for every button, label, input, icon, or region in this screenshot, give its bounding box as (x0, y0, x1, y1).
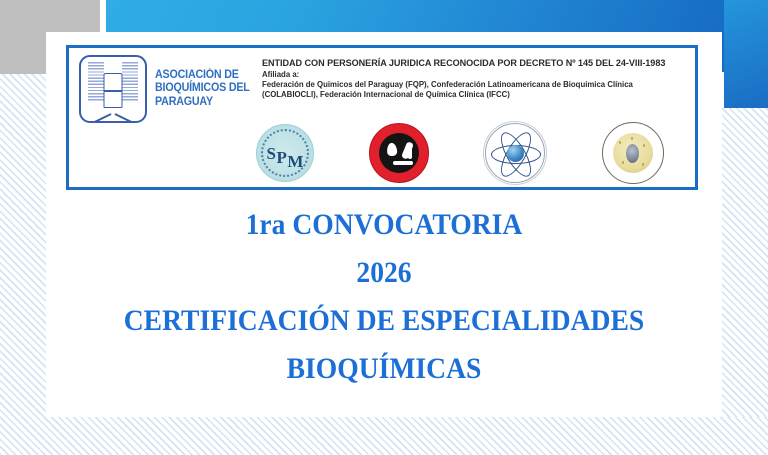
blood-cell-icon (626, 144, 639, 163)
seal-spm-initials: SPM (257, 125, 313, 181)
seal-hem-speck (619, 141, 622, 144)
association-name-line-3: PARAGUAY (155, 96, 250, 110)
seal-spm-icon: SPM (256, 124, 314, 182)
blood-drop-icon (386, 143, 397, 157)
legal-text-block: ENTIDAD CON PERSONERÍA JURIDICA RECONOCI… (262, 58, 689, 101)
poster-card: ASOCIACIÓN DE BIOQUÍMICOS DEL PARAGUAY E… (46, 32, 722, 417)
decor-hatch-bottom (0, 417, 768, 455)
asociacion-bioquimicos-logo-icon (79, 55, 147, 123)
affiliation-line-1: Federación de Quimicos del Paraguay (FQP… (262, 80, 689, 90)
legal-decree-line: ENTIDAD CON PERSONERÍA JURIDICA RECONOCI… (262, 58, 689, 68)
atom-nucleus-icon (507, 145, 524, 162)
association-name-line-2: BIOQUÍMICOS DEL (155, 82, 250, 96)
decor-hatch-left (0, 74, 46, 455)
seal-hematologia-laboratorial-icon (369, 123, 429, 183)
seal-hem-core (613, 133, 653, 173)
logo-leg-left (87, 113, 111, 123)
seal-spm-letter-s: S (267, 145, 277, 162)
seal-hem-speck (643, 144, 646, 147)
association-identity: ASOCIACIÓN DE BIOQUÍMICOS DEL PARAGUAY (79, 55, 264, 123)
association-name: ASOCIACIÓN DE BIOQUÍMICOS DEL PARAGUAY (155, 69, 250, 110)
letterhead-box: ASOCIACIÓN DE BIOQUÍMICOS DEL PARAGUAY E… (66, 45, 698, 190)
title-line-2-year: 2026 (73, 258, 695, 288)
microscope-base-icon (393, 161, 413, 165)
seal-hem-speck (631, 137, 634, 140)
title-line-1: 1ra CONVOCATORIA (73, 210, 695, 240)
title-line-4: BIOQUÍMICAS (73, 354, 695, 384)
affiliation-label: Afiliada a: (262, 70, 689, 79)
member-society-seals: SPM (229, 120, 691, 186)
logo-column-right (122, 62, 138, 102)
seal-spm-letter-p: P (277, 149, 288, 166)
title-line-3: CERTIFICACIÓN DE ESPECIALIDADES (73, 306, 695, 336)
seal-quimica-clinica-icon (483, 121, 547, 185)
seal-spm-letter-m: M (287, 153, 304, 170)
seal-hematologia-icon (602, 122, 664, 184)
seal-hem-speck (622, 161, 625, 164)
announcement-title: 1ra CONVOCATORIA 2026 CERTIFICACIÓN DE E… (46, 210, 722, 384)
decor-hatch-right (722, 108, 768, 418)
affiliation-line-2: (COLABIOCLI), Federación Internacional d… (262, 90, 689, 100)
decor-blue-banner-right (724, 0, 768, 108)
poster-page: ASOCIACIÓN DE BIOQUÍMICOS DEL PARAGUAY E… (0, 0, 768, 455)
seal-hem-speck (642, 163, 645, 166)
association-name-line-1: ASOCIACIÓN DE (155, 69, 250, 83)
microscope-tube-icon (401, 141, 414, 159)
logo-column-left (88, 62, 104, 102)
logo-leg-right (115, 113, 139, 123)
seal-red-core (379, 133, 419, 173)
logo-crossbar (105, 90, 122, 92)
